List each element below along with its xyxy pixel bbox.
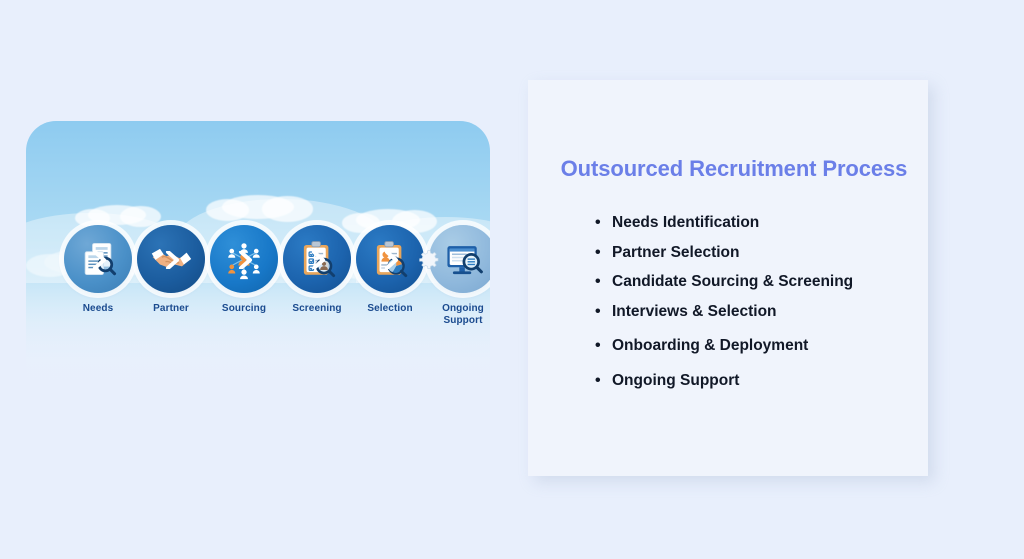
- stage-screening: Screening: [283, 225, 351, 315]
- stage-ongoing-support: Ongoing Support: [429, 225, 490, 327]
- chevron-right-icon-1: [92, 251, 108, 269]
- stage-label-partner: Partner: [137, 303, 205, 315]
- stage-label-selection: Selection: [356, 303, 424, 315]
- desktop-monitor-magnifier-icon: [441, 237, 485, 281]
- cloud-1: [88, 205, 146, 225]
- gear-icon: [418, 249, 440, 271]
- process-step-list: Needs Identification Partner Selection C…: [584, 208, 853, 395]
- stage-label-needs: Needs: [64, 303, 132, 315]
- stage-needs: Needs: [64, 225, 132, 315]
- recruitment-process-card: Outsourced Recruitment Process Needs Ide…: [528, 80, 928, 476]
- list-item: Ongoing Support: [612, 366, 853, 396]
- stage-label-screening: Screening: [283, 303, 351, 315]
- stage-label-sourcing: Sourcing: [210, 303, 278, 315]
- list-item: Onboarding & Deployment: [612, 331, 853, 361]
- cloud-2: [222, 195, 294, 219]
- stage-partner: Partner: [137, 225, 205, 315]
- stage-label-ongoing-support: Ongoing Support: [429, 303, 490, 327]
- recruitment-process-illustration: Needs Partner: [26, 121, 490, 421]
- stage-selection: Selection: [356, 225, 424, 315]
- chevron-right-icon-5: [384, 251, 400, 269]
- list-item: Interviews & Selection: [612, 297, 853, 327]
- chevron-right-icon-4: [311, 251, 327, 269]
- list-item: Partner Selection: [612, 238, 853, 268]
- card-title: Outsourced Recruitment Process: [554, 156, 914, 182]
- process-stage-chain: Needs Partner: [26, 225, 490, 345]
- list-item: Candidate Sourcing & Screening: [612, 267, 853, 297]
- chevron-right-icon-3: [238, 251, 254, 269]
- chevron-right-icon-2: [165, 251, 181, 269]
- stage-sourcing: Sourcing: [210, 225, 278, 315]
- list-item: Needs Identification: [612, 208, 853, 238]
